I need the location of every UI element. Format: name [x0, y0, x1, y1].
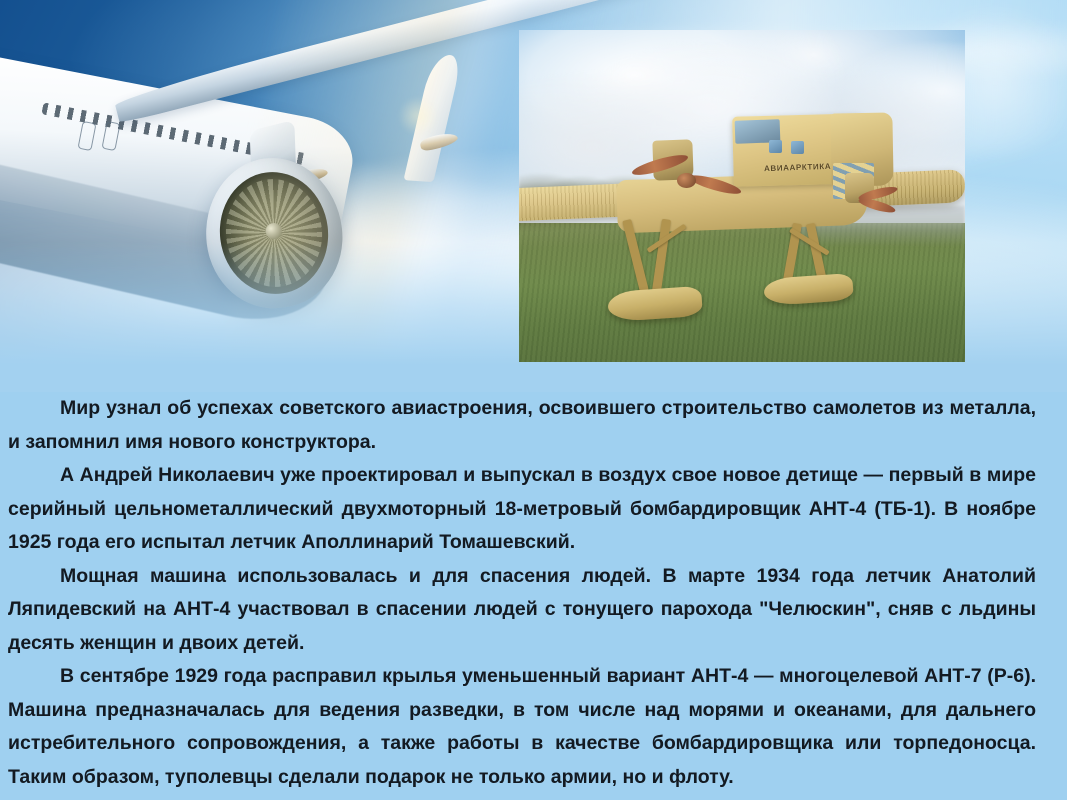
paragraph-4: В сентябре 1929 года расправил крылья ум…	[8, 660, 1036, 794]
inset-photo-ant4: АВИААРКТИКА	[519, 30, 965, 362]
ant4-cabin-window	[769, 140, 782, 153]
paragraph-2: А Андрей Николаевич уже проектировал и в…	[8, 459, 1036, 560]
slide-body-text: Мир узнал об успехах советского авиастро…	[8, 392, 1036, 794]
paragraph-3: Мощная машина использовалась и для спасе…	[8, 560, 1036, 661]
paragraph-1: Мир узнал об успехах советского авиастро…	[8, 392, 1036, 459]
ant4-propeller-hub	[677, 173, 696, 188]
ant4-cabin-window	[791, 141, 804, 154]
presentation-slide: АВИААРКТИКА Мир узнал об успехах советск…	[0, 0, 1067, 800]
